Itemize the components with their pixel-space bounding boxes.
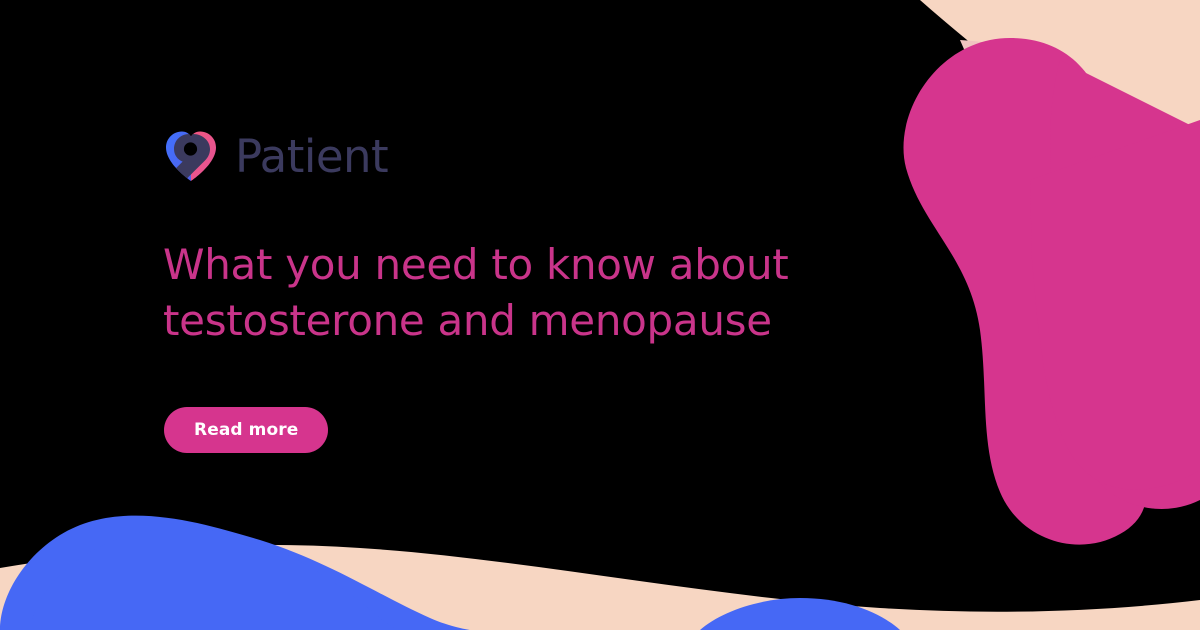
bottom-left-blue-blob-shape [0,516,470,630]
brand-wordmark: Patient [235,134,388,179]
bottom-left-blue-blob-cap [30,528,400,630]
bottom-right-blue-blob-shape [700,598,900,630]
top-right-peach-blob-shape [920,0,1200,195]
patient-heart-logo-icon [163,128,219,184]
top-right-magenta-blob-fill [1030,120,1200,490]
logo-pin-hole [184,142,197,155]
brand-logo[interactable]: Patient [163,128,388,184]
top-right-magenta-blob-shape [903,38,1146,545]
page-title: What you need to know about testosterone… [163,237,823,349]
social-share-card: Patient What you need to know about test… [0,0,1200,630]
top-right-peach-overlap-shape [960,40,1200,300]
top-right-magenta-blob-extension [1050,60,1200,509]
read-more-button[interactable]: Read more [164,407,328,453]
top-right-peach-blob-shape-b [930,0,1200,200]
bottom-peach-wave-shape [0,545,1200,630]
